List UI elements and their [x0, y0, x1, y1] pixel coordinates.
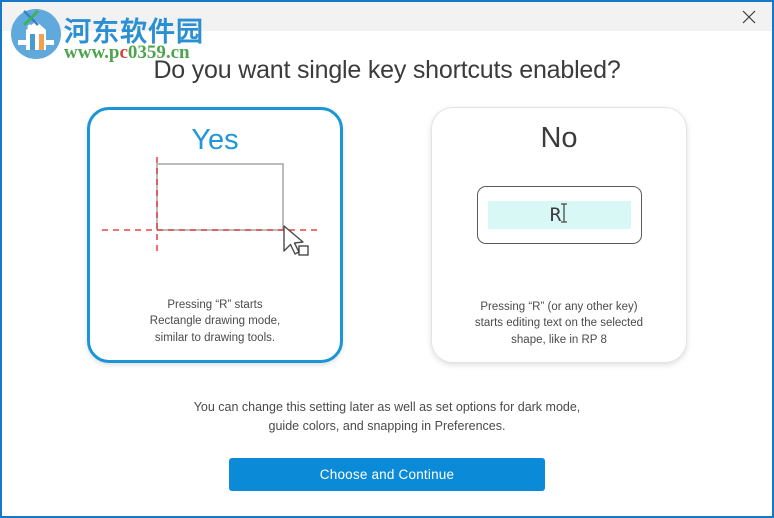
footer-note-line-1: You can change this setting later as wel… — [2, 398, 772, 417]
no-text-field-highlight: R — [488, 201, 631, 229]
dialog-content: Do you want single key shortcuts enabled… — [2, 31, 772, 516]
diagram-rectangle — [157, 164, 283, 230]
page-title: Do you want single key shortcuts enabled… — [2, 31, 772, 85]
choice-card-no-heading: No — [432, 108, 686, 155]
close-button[interactable] — [726, 2, 772, 31]
choose-and-continue-button[interactable]: Choose and Continue — [229, 458, 545, 491]
choice-card-yes-heading: Yes — [90, 110, 340, 157]
dialog-window: 河东软件园 www.pc0359.cn Do you want single k… — [0, 0, 774, 518]
choice-card-yes-caption: Pressing “R” starts Rectangle drawing mo… — [90, 297, 340, 347]
choice-cards: Yes — [2, 107, 772, 363]
no-caption-line-2: starts editing text on the selected — [432, 315, 686, 332]
yes-caption-line-2: Rectangle drawing mode, — [90, 313, 340, 330]
choice-card-no[interactable]: No R Pressing “R” (or any other key) sta… — [431, 107, 687, 363]
text-ibeam-cursor-icon — [559, 202, 569, 229]
no-shape-box: R — [477, 186, 642, 244]
title-bar — [2, 2, 772, 31]
no-caption-line-1: Pressing “R” (or any other key) — [432, 299, 686, 316]
yes-diagram — [90, 154, 340, 294]
cta-wrapper: Choose and Continue — [2, 458, 772, 491]
resize-handle-icon — [299, 246, 308, 255]
no-caption-line-3: shape, like in RP 8 — [432, 332, 686, 349]
yes-caption-line-3: similar to drawing tools. — [90, 330, 340, 347]
choice-card-yes[interactable]: Yes — [87, 107, 343, 363]
choice-card-no-caption: Pressing “R” (or any other key) starts e… — [432, 299, 686, 349]
footer-note-line-2: guide colors, and snapping in Preference… — [2, 417, 772, 436]
yes-caption-line-1: Pressing “R” starts — [90, 297, 340, 314]
footer-note: You can change this setting later as wel… — [2, 398, 772, 436]
close-icon — [742, 10, 756, 24]
